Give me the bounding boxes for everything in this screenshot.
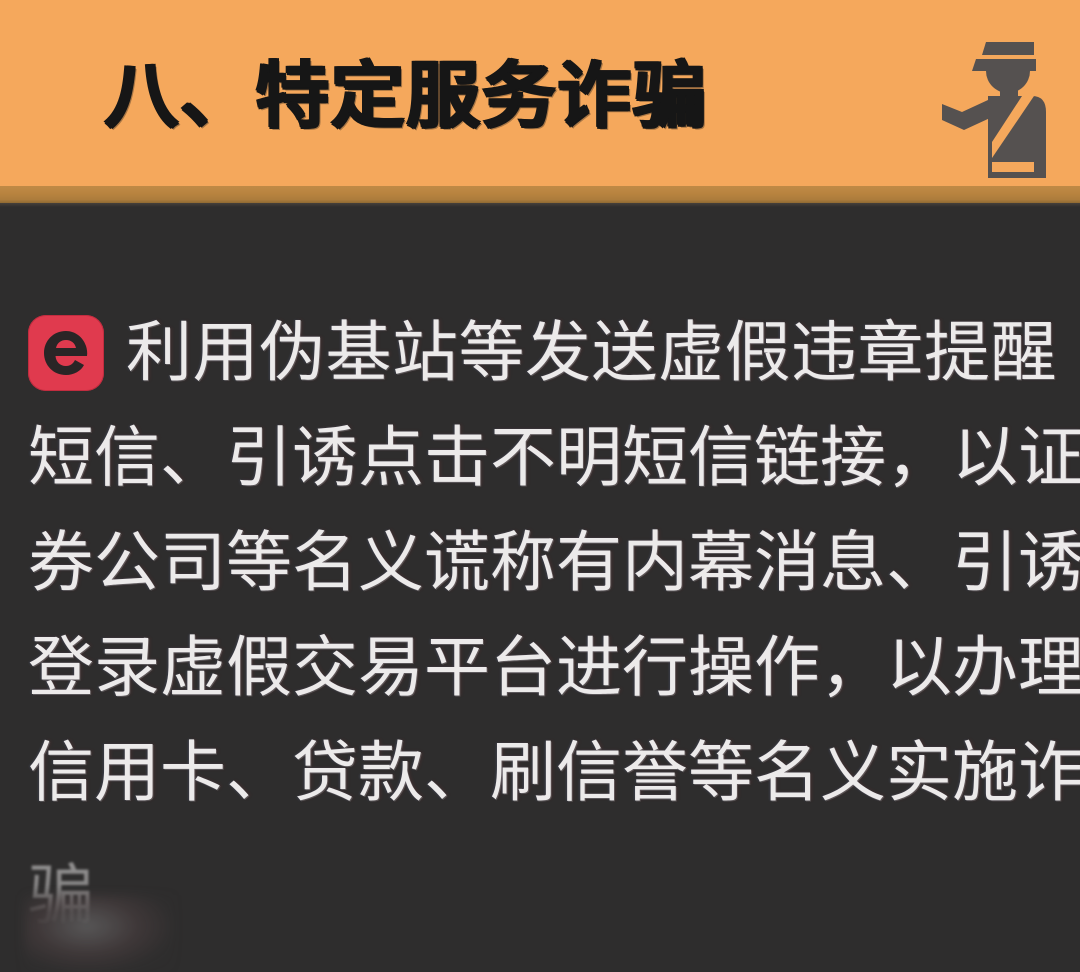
text-line-content: 券公司等名义谎称有内幕消息、引诱 <box>28 510 1080 615</box>
text-line-content: 利用伪基站等发送虚假违章提醒 <box>126 300 1057 405</box>
text-line: 信用卡、贷款、刷信誉等名义实施诈 <box>28 720 1056 825</box>
text-line: 短信、引诱点击不明短信链接，以证 <box>28 405 1056 510</box>
body-area: 利用伪基站等发送虚假违章提醒 短信、引诱点击不明短信链接，以证 券公司等名义谎称… <box>0 207 1080 972</box>
banner-underline <box>0 186 1080 203</box>
fraud-description-paragraph: 利用伪基站等发送虚假违章提醒 短信、引诱点击不明短信链接，以证 券公司等名义谎称… <box>28 300 1056 825</box>
edge-browser-e-icon <box>28 315 104 391</box>
text-line-content: 信用卡、贷款、刷信誉等名义实施诈 <box>28 720 1080 825</box>
text-line: 利用伪基站等发送虚假违章提醒 <box>28 300 1056 405</box>
text-line-cut-off: 骗 <box>28 855 94 935</box>
header-banner: 八、特定服务诈骗 <box>0 0 1080 186</box>
text-line: 券公司等名义谎称有内幕消息、引诱 <box>28 510 1056 615</box>
text-line-content: 登录虚假交易平台进行操作，以办理 <box>28 615 1080 720</box>
fraud-awareness-poster: 八、特定服务诈骗 <box>0 0 1080 972</box>
text-line-content: 短信、引诱点击不明短信链接，以证 <box>28 405 1080 510</box>
traffic-police-officer-icon <box>942 38 1062 186</box>
text-line: 登录虚假交易平台进行操作，以办理 <box>28 615 1056 720</box>
page-title: 八、特定服务诈骗 <box>104 60 708 132</box>
